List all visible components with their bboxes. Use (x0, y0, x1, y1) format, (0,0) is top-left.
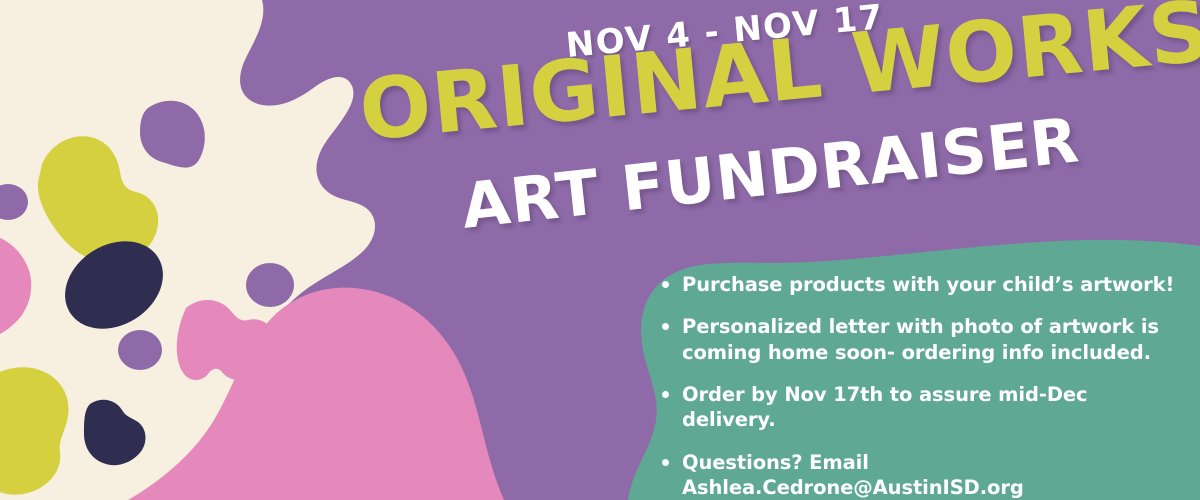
bullet-dot-icon (662, 281, 669, 288)
bullet-text: Personalized letter with photo of artwor… (682, 314, 1159, 365)
info-bullet-list: Purchase products with your child’s artw… (662, 272, 1182, 500)
bullet-dot-icon (662, 391, 669, 398)
bullet-dot-icon (662, 323, 669, 330)
bullet-text: Purchase products with your child’s artw… (682, 272, 1174, 297)
bullet-line: Purchase products with your child’s artw… (682, 273, 1174, 296)
bullet-text: Order by Nov 17th to assure mid-Dec deli… (682, 382, 1182, 433)
cream-pill (280, 122, 328, 148)
purple-dot-upper-right (246, 263, 294, 307)
bullet-line: Personalized letter with photo of artwor… (682, 315, 1159, 338)
art-fundraiser-poster: NOV 4 - NOV 17 ORIGINAL WORKS ART FUNDRA… (0, 0, 1200, 500)
bullet-line: Order by Nov 17th to assure mid-Dec deli… (682, 383, 1088, 431)
list-item: Personalized letter with photo of artwor… (662, 314, 1182, 365)
list-item: Order by Nov 17th to assure mid-Dec deli… (662, 382, 1182, 433)
bullet-dot-icon (662, 459, 669, 466)
list-item: Questions? Email Ashlea.Cedrone@AustinIS… (662, 450, 1182, 500)
bullet-line: Questions? Email Ashlea.Cedrone@AustinIS… (682, 451, 1024, 499)
contact-email-text: Questions? Email Ashlea.Cedrone@AustinIS… (682, 450, 1182, 500)
bullet-line: coming home soon- ordering info included… (682, 341, 1151, 364)
purple-dot-mid (118, 330, 162, 370)
list-item: Purchase products with your child’s artw… (662, 272, 1182, 297)
